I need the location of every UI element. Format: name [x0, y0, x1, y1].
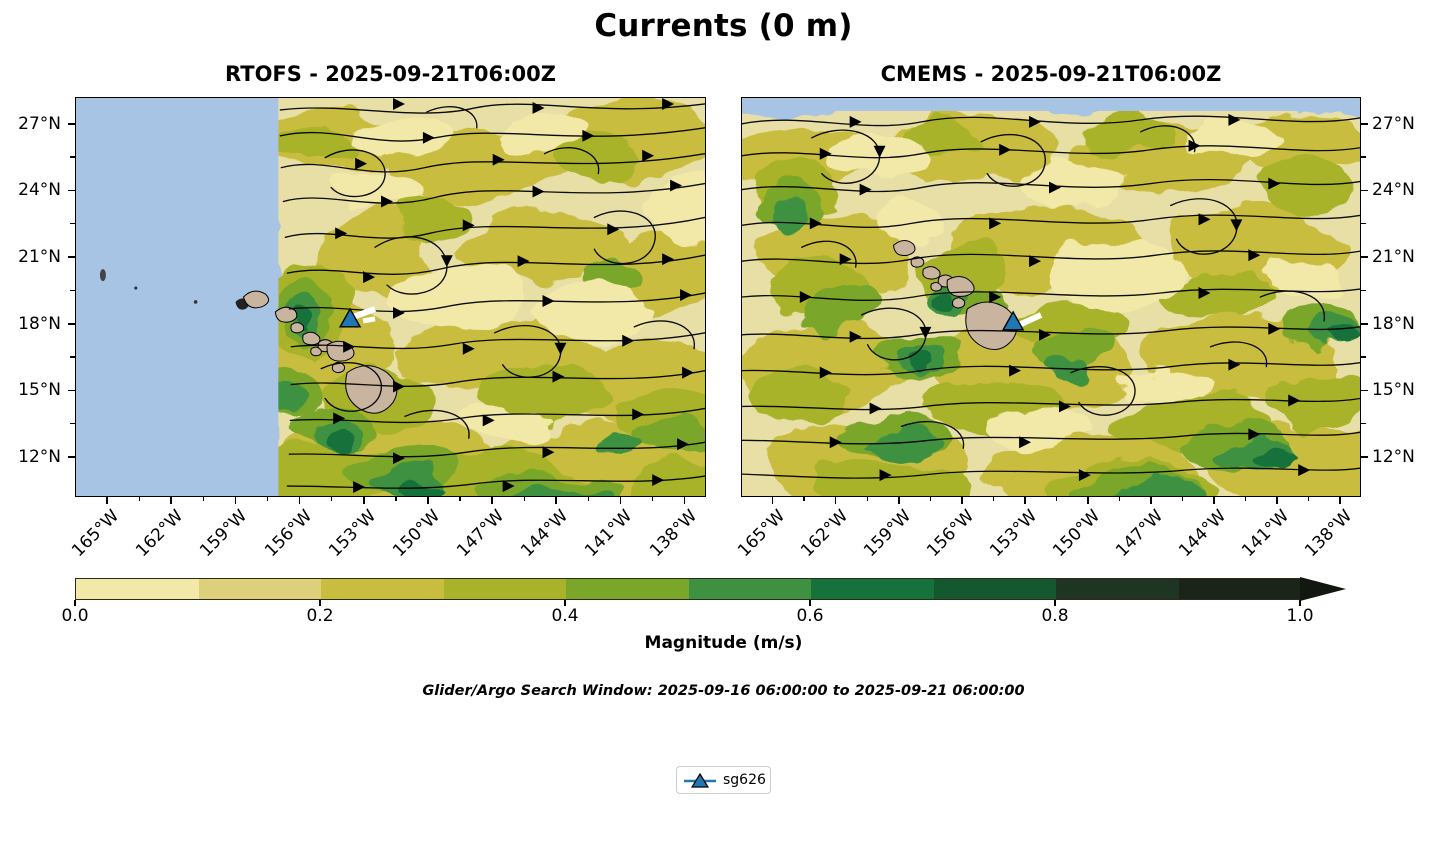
lon-minor-tick — [930, 497, 931, 501]
colorbar-tick-label: 0.0 — [40, 606, 110, 626]
colorbar-tick-label: 0.4 — [530, 606, 600, 626]
lat-tick-label: 18°N — [0, 314, 61, 334]
lon-tick-label: 141°W — [1227, 506, 1293, 572]
lon-minor-tick — [1056, 497, 1057, 501]
lon-tick-label: 156°W — [249, 506, 315, 572]
colorbar-band — [1056, 579, 1179, 599]
colorbar-band — [811, 579, 934, 599]
lon-minor-tick — [1119, 497, 1120, 501]
colorbar-band — [199, 579, 322, 599]
lat-tick-label: 21°N — [1372, 247, 1442, 267]
lon-tick-label: 144°W — [506, 506, 572, 572]
colorbar-tick-label: 0.2 — [285, 606, 355, 626]
lat-tick-label: 12°N — [1372, 447, 1442, 467]
lon-tick — [170, 497, 172, 504]
lon-tick — [363, 497, 365, 504]
lon-tick — [961, 497, 963, 504]
lat-minor-tick — [70, 423, 75, 424]
lon-tick-label: 156°W — [911, 506, 977, 572]
lon-tick — [835, 497, 837, 504]
lon-tick-label: 138°W — [634, 506, 700, 572]
lon-tick — [684, 497, 686, 504]
lon-minor-tick — [139, 497, 140, 501]
lon-tick — [1276, 497, 1278, 504]
lat-tick — [1361, 390, 1368, 392]
lat-tick-label: 18°N — [1372, 314, 1442, 334]
lon-tick-label: 150°W — [1037, 506, 1103, 572]
search-window-footer: Glider/Argo Search Window: 2025-09-16 06… — [0, 683, 1447, 699]
lat-minor-tick — [1361, 423, 1366, 424]
lon-tick-label: 150°W — [378, 506, 444, 572]
lat-minor-tick — [1361, 156, 1366, 157]
colorbar-band — [1179, 579, 1302, 599]
lon-tick — [620, 497, 622, 504]
lat-tick-label: 24°N — [0, 180, 61, 200]
map-panel-rtofs[interactable] — [75, 97, 706, 497]
lat-tick — [1361, 190, 1368, 192]
lon-tick-label: 153°W — [313, 506, 379, 572]
lon-minor-tick — [588, 497, 589, 501]
lat-tick — [1361, 456, 1368, 458]
lon-minor-tick — [993, 497, 994, 501]
lat-tick — [1361, 123, 1368, 125]
lon-tick-label: 138°W — [1290, 506, 1356, 572]
lon-tick-label: 162°W — [121, 506, 187, 572]
colorbar-tick-label: 1.0 — [1265, 606, 1335, 626]
lat-minor-tick — [70, 290, 75, 291]
lat-tick — [68, 323, 75, 325]
lon-minor-tick — [652, 497, 653, 501]
lon-minor-tick — [395, 497, 396, 501]
lat-minor-tick — [70, 356, 75, 357]
lon-tick-label: 165°W — [57, 506, 123, 572]
lat-tick — [1361, 323, 1368, 325]
lon-tick-label: 162°W — [785, 506, 851, 572]
lon-tick — [1024, 497, 1026, 504]
lon-tick — [427, 497, 429, 504]
colorbar-label: Magnitude (m/s) — [0, 633, 1447, 653]
colorbar-band — [934, 579, 1057, 599]
lat-tick-label: 15°N — [1372, 380, 1442, 400]
lat-tick — [68, 390, 75, 392]
lat-minor-tick — [1361, 356, 1366, 357]
lon-tick — [1150, 497, 1152, 504]
lon-minor-tick — [459, 497, 460, 501]
lat-tick — [68, 190, 75, 192]
lon-tick — [898, 497, 900, 504]
lat-tick-label: 21°N — [0, 247, 61, 267]
lon-tick — [1339, 497, 1341, 504]
lat-tick — [68, 123, 75, 125]
lon-minor-tick — [803, 497, 804, 501]
lon-minor-tick — [203, 497, 204, 501]
lat-minor-tick — [70, 156, 75, 157]
lat-tick-label: 27°N — [0, 114, 61, 134]
colorbar-tick-label: 0.6 — [775, 606, 845, 626]
colorbar-band — [321, 579, 444, 599]
lat-tick-label: 27°N — [1372, 114, 1442, 134]
lon-minor-tick — [267, 497, 268, 501]
lon-minor-tick — [524, 497, 525, 501]
colorbar-band — [566, 579, 689, 599]
lon-tick-label: 159°W — [185, 506, 251, 572]
lon-tick-label: 144°W — [1164, 506, 1230, 572]
panel-title-cmems: CMEMS - 2025-09-21T06:00Z — [741, 62, 1361, 86]
lat-tick-label: 12°N — [0, 447, 61, 467]
lon-tick-label: 153°W — [974, 506, 1040, 572]
colorbar-band — [689, 579, 812, 599]
lat-tick — [68, 456, 75, 458]
lat-tick-label: 15°N — [0, 380, 61, 400]
colorbar-band — [76, 579, 199, 599]
legend-marker-icon — [683, 771, 717, 789]
colorbar-band — [444, 579, 567, 599]
lon-tick-label: 159°W — [848, 506, 914, 572]
lon-tick-label: 147°W — [1101, 506, 1167, 572]
lon-tick-label: 147°W — [442, 506, 508, 572]
legend-box[interactable]: sg626 — [676, 766, 771, 794]
lat-tick — [68, 256, 75, 258]
lon-tick-label: 165°W — [722, 506, 788, 572]
lon-tick — [106, 497, 108, 504]
map-panel-cmems[interactable] — [741, 97, 1361, 497]
colorbar-extend-arrow — [1300, 577, 1346, 601]
lon-tick — [299, 497, 301, 504]
lon-tick — [555, 497, 557, 504]
lat-tick — [1361, 256, 1368, 258]
lat-minor-tick — [1361, 290, 1366, 291]
lon-tick — [1213, 497, 1215, 504]
lat-minor-tick — [70, 223, 75, 224]
lon-tick — [772, 497, 774, 504]
lon-tick — [1087, 497, 1089, 504]
figure-title: Currents (0 m) — [0, 8, 1447, 44]
lon-tick-label: 141°W — [570, 506, 636, 572]
lon-minor-tick — [1182, 497, 1183, 501]
colorbar-tick-label: 0.8 — [1020, 606, 1090, 626]
lat-tick-label: 24°N — [1372, 180, 1442, 200]
lon-minor-tick — [331, 497, 332, 501]
lon-tick — [235, 497, 237, 504]
lon-minor-tick — [1245, 497, 1246, 501]
panel-title-rtofs: RTOFS - 2025-09-21T06:00Z — [75, 62, 706, 86]
lon-tick — [491, 497, 493, 504]
figure-canvas: Currents (0 m) RTOFS - 2025-09-21T06:00Z… — [0, 0, 1447, 863]
legend-label-sg626: sg626 — [723, 772, 766, 788]
lon-minor-tick — [1308, 497, 1309, 501]
lat-minor-tick — [1361, 223, 1366, 224]
lon-minor-tick — [867, 497, 868, 501]
colorbar[interactable] — [75, 578, 1300, 600]
